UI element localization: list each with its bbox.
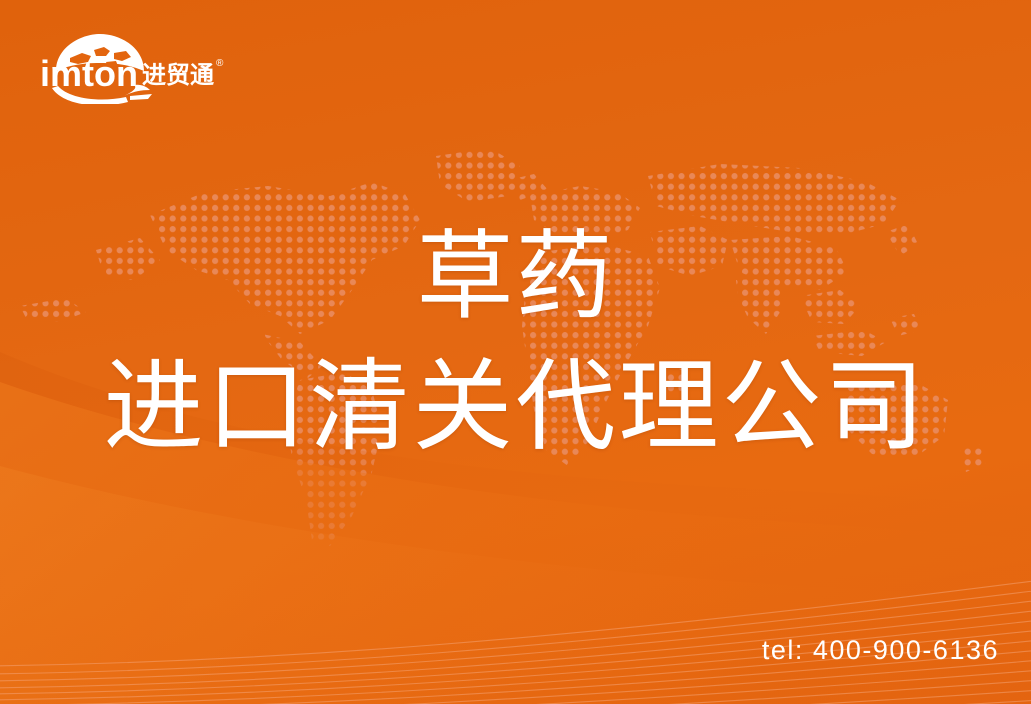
headline-line-2: 进口清关代理公司	[0, 357, 1031, 457]
line-fan-decoration	[0, 524, 1031, 704]
contact-phone[interactable]: tel: 400-900-6136	[762, 635, 999, 666]
company-logo[interactable]: imton 进贸通 ®	[36, 26, 236, 104]
headline-line-1: 草药	[0, 228, 1031, 325]
trademark-symbol: ®	[216, 58, 224, 69]
headline-block: 草药 进口清关代理公司	[0, 228, 1031, 457]
promo-banner: imton 进贸通 ® 草药 进口清关代理公司 tel: 400-900-613…	[0, 0, 1031, 704]
logo-chinese-text: 进贸通	[142, 62, 214, 89]
